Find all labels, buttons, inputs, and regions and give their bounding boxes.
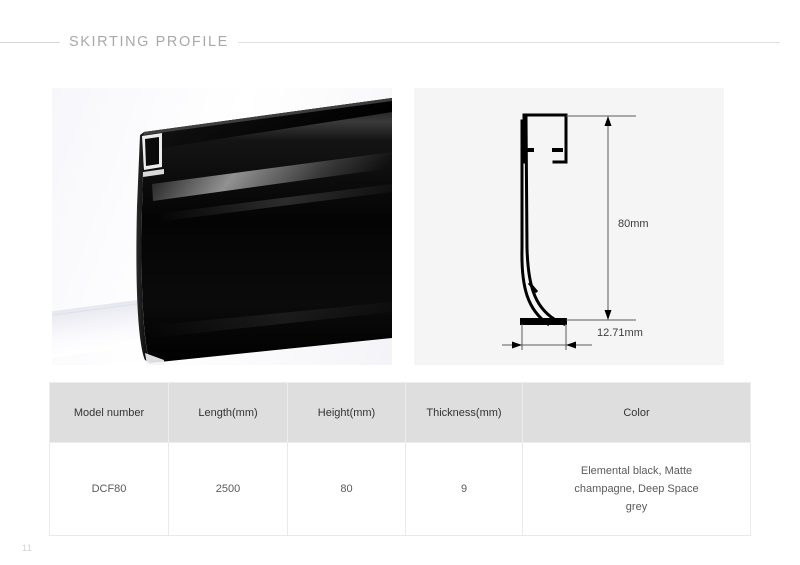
cell-model-number: DCF80 — [50, 443, 169, 536]
cell-thickness: 9 — [406, 443, 523, 536]
cell-color-text: Elemental black, Matte champagne, Deep S… — [524, 462, 749, 516]
page-title: SKIRTING PROFILE — [60, 34, 238, 50]
column-header-height: Height(mm) — [288, 383, 406, 443]
width-dimension-label: 12.71mm — [597, 327, 643, 339]
header-rule-left — [0, 42, 60, 43]
column-header-length: Length(mm) — [169, 383, 288, 443]
media-row: 80mm 12.71mm — [52, 88, 724, 365]
cell-length: 2500 — [169, 443, 288, 536]
page-number: 11 — [22, 543, 32, 553]
column-header-thickness: Thickness(mm) — [406, 383, 523, 443]
specification-table: Model number Length(mm) Height(mm) Thick… — [49, 382, 751, 536]
cell-color: Elemental black, Matte champagne, Deep S… — [523, 443, 751, 536]
product-photo — [52, 88, 392, 365]
technical-drawing: 80mm 12.71mm — [414, 88, 724, 365]
column-header-model-number: Model number — [50, 383, 169, 443]
profile-outline — [521, 115, 566, 324]
profile-cross-section-diagram: 80mm 12.71mm — [414, 88, 724, 365]
table-header-row: Model number Length(mm) Height(mm) Thick… — [50, 383, 751, 443]
cell-height: 80 — [288, 443, 406, 536]
column-header-color: Color — [523, 383, 751, 443]
page-header: SKIRTING PROFILE — [0, 30, 800, 54]
height-dimension-label: 80mm — [618, 218, 649, 230]
table-row: DCF80 2500 80 9 Elemental black, Matte c… — [50, 443, 751, 536]
skirting-board-render — [52, 88, 392, 365]
header-rule-right — [238, 42, 780, 43]
